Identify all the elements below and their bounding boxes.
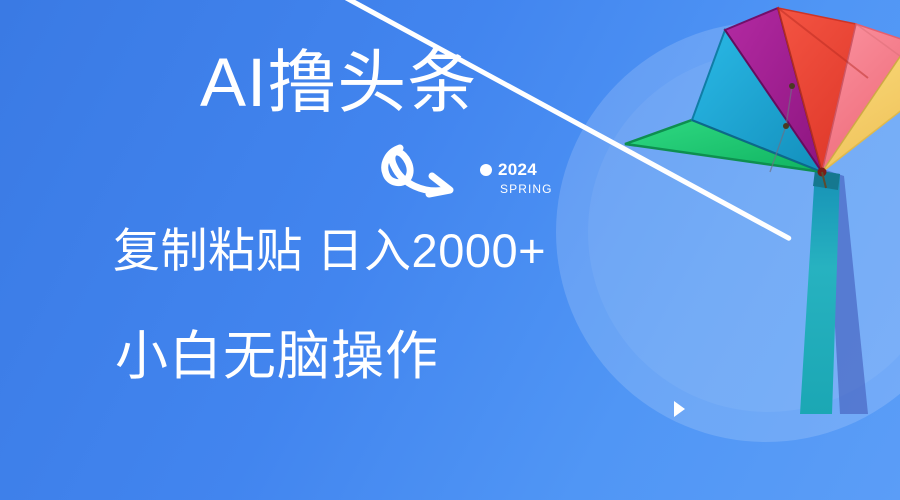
kite-tail-shadow [826,170,868,414]
headline-line-2: 复制粘贴 日入2000+ [113,212,546,281]
badge-year-row: 2024 [480,160,570,180]
headline-line-3: 小白无脑操作 [115,314,439,390]
kite-bridle-lines [770,83,795,172]
badge-season-label: SPRING [500,182,570,196]
kite-tail [800,170,840,414]
text-block: AI撸头条 复制粘贴 日入2000+ 小白无脑操作 [0,0,620,500]
play-triangle-icon [674,401,685,417]
background-circle-inner [588,52,900,412]
poster-canvas: AI撸头条 复制粘贴 日入2000+ 小白无脑操作 2024 SPRING [0,0,900,500]
kite-illustration [600,0,900,414]
season-badge: 2024 SPRING [480,160,570,196]
curly-arrow-icon [372,142,484,220]
page-title: AI撸头条 [200,47,477,119]
kite-body [625,8,900,188]
badge-year-label: 2024 [498,160,537,180]
